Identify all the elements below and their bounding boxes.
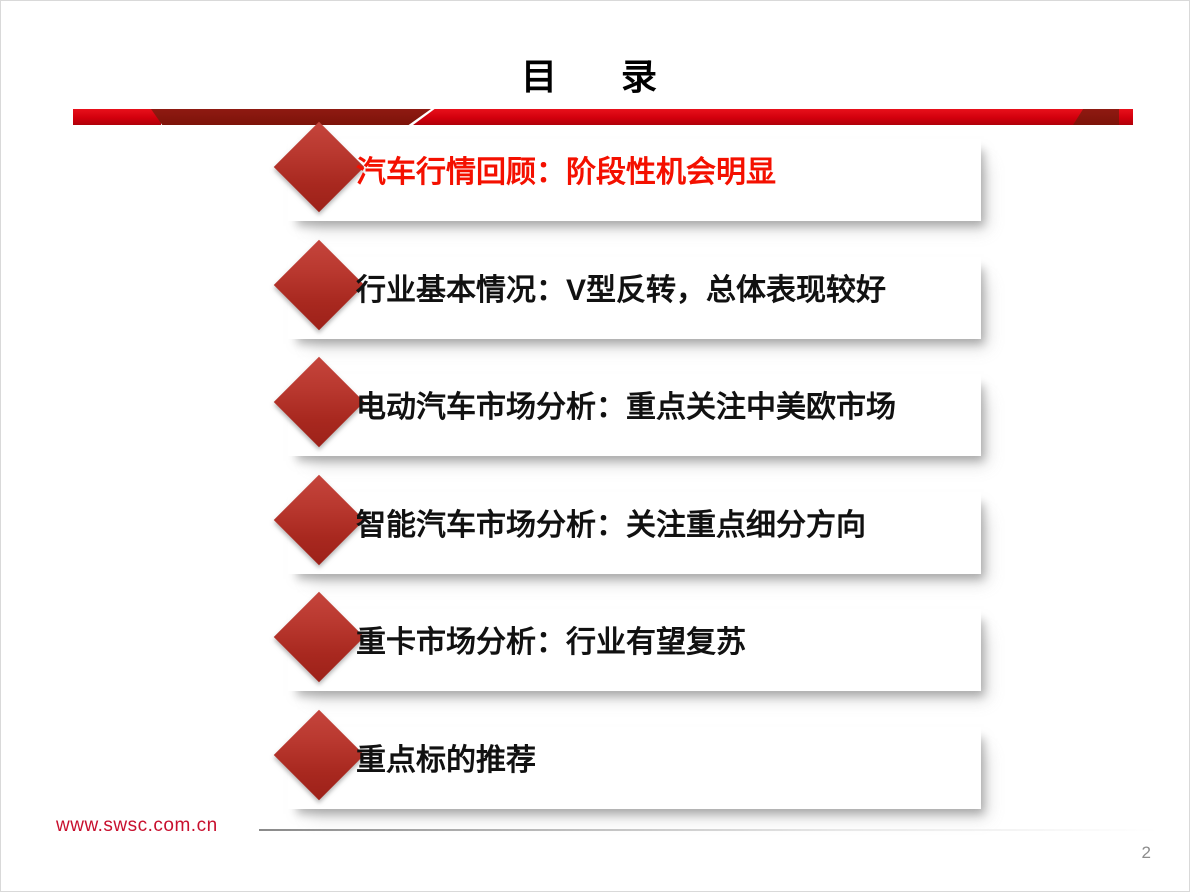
agenda-item-6[interactable]: 重点标的推荐	[288, 727, 988, 831]
agenda-item-label: 智能汽车市场分析：关注重点细分方向	[356, 500, 866, 552]
agenda-item-label: 汽车行情回顾：阶段性机会明显	[356, 147, 776, 199]
footer-website-url[interactable]: www.swsc.com.cn	[56, 815, 218, 837]
agenda-item-4[interactable]: 智能汽车市场分析：关注重点细分方向	[288, 492, 988, 596]
page-number: 2	[1142, 843, 1151, 863]
footer-divider-line	[259, 829, 1159, 831]
agenda-list: 汽车行情回顾：阶段性机会明显 行业基本情况：V型反转，总体表现较好 电动汽车市场…	[1, 1, 1190, 892]
slide-canvas: 目 录 汽车行情回顾：阶段性机会明显 行业基本情况：V型反转，总体表现较好 电动…	[0, 0, 1190, 892]
agenda-item-3[interactable]: 电动汽车市场分析：重点关注中美欧市场	[288, 374, 988, 478]
agenda-item-label: 重点标的推荐	[356, 735, 536, 787]
agenda-item-label: 电动汽车市场分析：重点关注中美欧市场	[356, 382, 896, 434]
agenda-item-5[interactable]: 重卡市场分析：行业有望复苏	[288, 609, 988, 713]
agenda-item-2[interactable]: 行业基本情况：V型反转，总体表现较好	[288, 257, 988, 361]
agenda-item-1[interactable]: 汽车行情回顾：阶段性机会明显	[288, 139, 988, 243]
agenda-item-label: 重卡市场分析：行业有望复苏	[356, 617, 746, 669]
agenda-item-label: 行业基本情况：V型反转，总体表现较好	[356, 265, 886, 317]
